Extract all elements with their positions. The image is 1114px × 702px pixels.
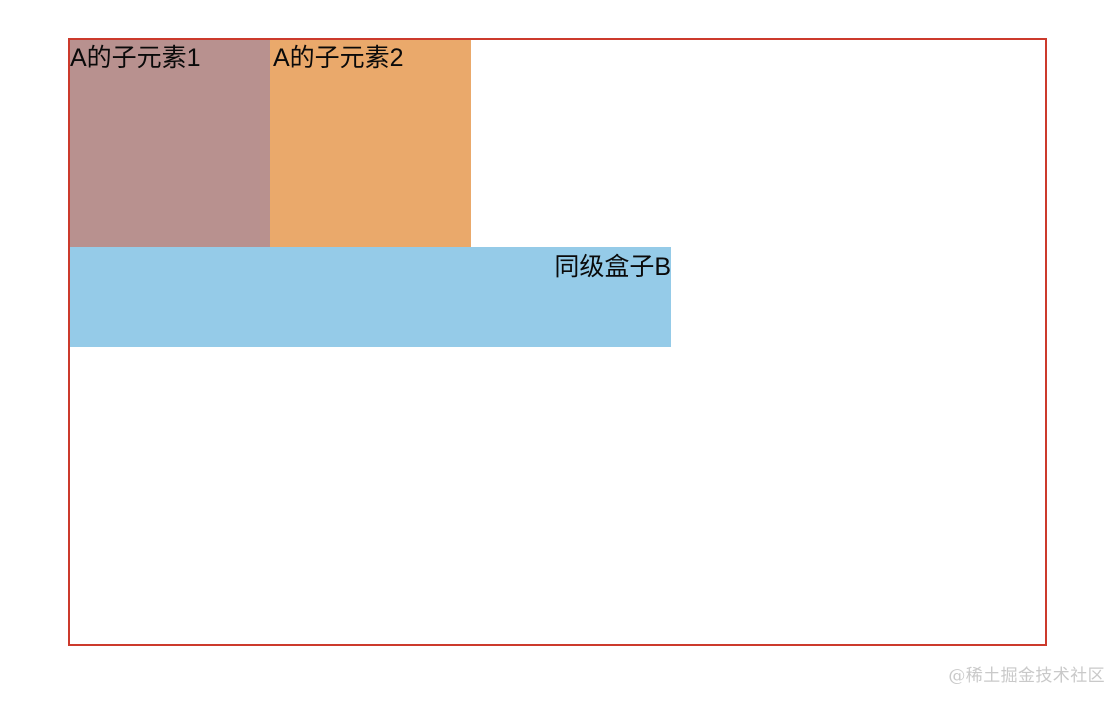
child-box-1-label: A的子元素1 — [70, 44, 201, 72]
watermark: @稀土掘金技术社区 — [948, 666, 1105, 686]
sibling-box-b: 同级盒子B — [70, 247, 671, 347]
parent-container-a: A的子元素1 A的子元素2 同级盒子B — [68, 38, 1047, 646]
child-box-2: A的子元素2 — [270, 40, 471, 247]
sibling-box-b-label: 同级盒子B — [554, 253, 671, 281]
floated-children-row: A的子元素1 A的子元素2 — [70, 40, 1045, 247]
child-box-1: A的子元素1 — [70, 40, 270, 247]
child-box-2-label: A的子元素2 — [273, 44, 404, 72]
diagram-canvas: A的子元素1 A的子元素2 同级盒子B @稀土掘金技术社区 — [0, 0, 1114, 702]
